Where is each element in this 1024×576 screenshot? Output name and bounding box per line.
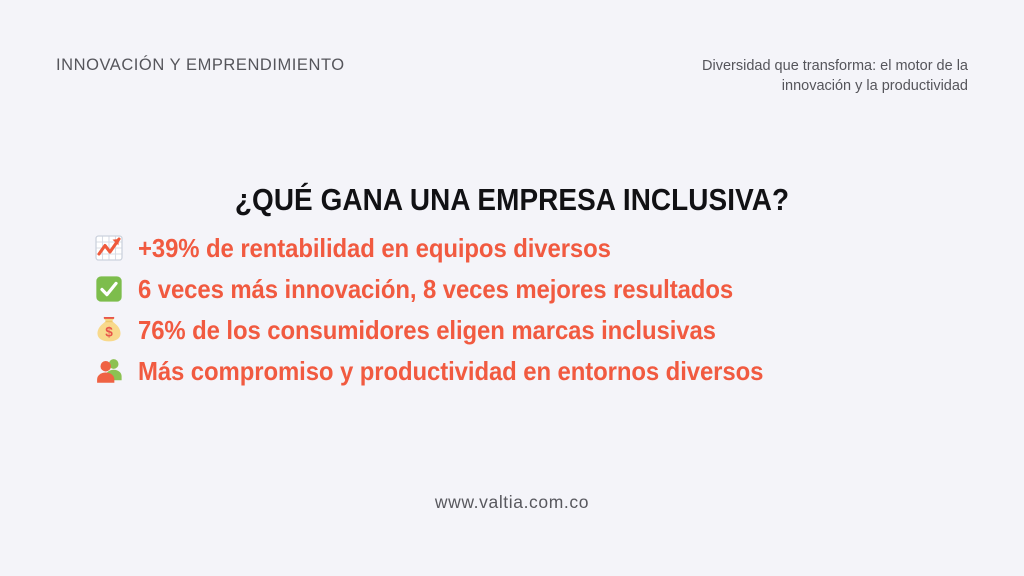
slide-canvas: INNOVACIÓN Y EMPRENDIMIENTO Diversidad q… [0, 0, 1024, 576]
list-item-label: +39% de rentabilidad en equipos diversos [138, 233, 611, 263]
header-subject-line-1: Diversidad que transforma: el motor de l… [608, 56, 968, 76]
page-title: ¿QUÉ GANA UNA EMPRESA INCLUSIVA? [51, 181, 973, 219]
list-item: $ 76% de los consumidores eligen marcas … [92, 309, 972, 350]
list-item: +39% de rentabilidad en equipos diversos [92, 227, 972, 268]
list-item: Más compromiso y productividad en entorn… [92, 350, 972, 391]
svg-text:$: $ [105, 324, 113, 339]
chart-increasing-icon [92, 231, 126, 265]
list-item-label: 6 veces más innovación, 8 veces mejores … [138, 274, 733, 304]
list-item-label: 76% de los consumidores eligen marcas in… [138, 315, 716, 345]
list-item-label: Más compromiso y productividad en entorn… [138, 356, 763, 386]
check-mark-button-icon [92, 272, 126, 306]
header-section-label: INNOVACIÓN Y EMPRENDIMIENTO [56, 56, 345, 75]
busts-in-silhouette-icon [92, 354, 126, 388]
header-subject-line-2: innovación y la productividad [608, 76, 968, 96]
money-bag-icon: $ [92, 313, 126, 347]
footer-website-url[interactable]: www.valtia.com.co [0, 492, 1024, 513]
list-item: 6 veces más innovación, 8 veces mejores … [92, 268, 972, 309]
header-subject-title: Diversidad que transforma: el motor de l… [608, 56, 968, 96]
benefits-list: +39% de rentabilidad en equipos diversos… [92, 227, 972, 391]
